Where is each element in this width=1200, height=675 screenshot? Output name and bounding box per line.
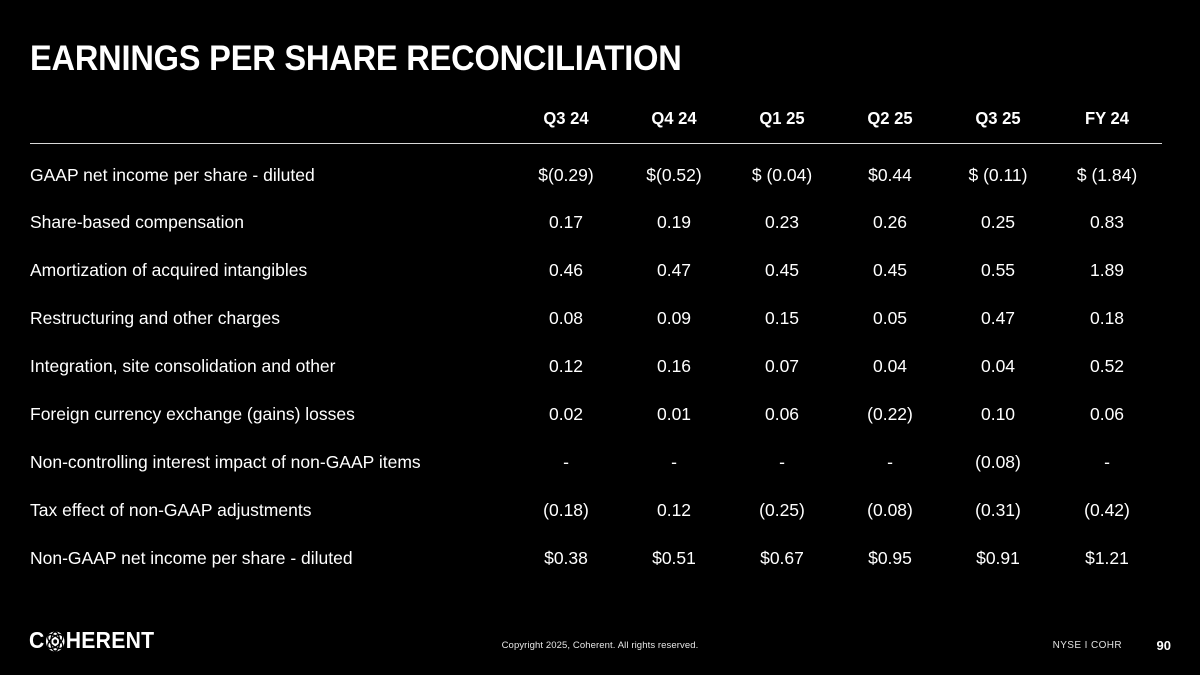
cell-value: 0.52 — [1052, 342, 1162, 390]
row-label: Tax effect of non-GAAP adjustments — [30, 486, 512, 534]
cell-value: 0.45 — [728, 246, 836, 294]
table-row: GAAP net income per share - diluted $(0.… — [30, 144, 1162, 199]
cell-value: 0.25 — [944, 198, 1052, 246]
cell-value: 0.01 — [620, 390, 728, 438]
cell-value: 0.23 — [728, 198, 836, 246]
cell-value: - — [836, 438, 944, 486]
cell-value: 0.12 — [620, 486, 728, 534]
cell-value: (0.42) — [1052, 486, 1162, 534]
cell-value: 0.06 — [1052, 390, 1162, 438]
table-header: Q3 24 Q4 24 Q1 25 Q2 25 Q3 25 FY 24 — [30, 108, 1162, 144]
column-header-q2-25: Q2 25 — [839, 108, 942, 144]
table: Q3 24 Q4 24 Q1 25 Q2 25 Q3 25 FY 24 GAAP… — [30, 108, 1162, 582]
cell-value: 0.09 — [620, 294, 728, 342]
table-row: Non-GAAP net income per share - diluted … — [30, 534, 1162, 582]
cell-value: $ (0.04) — [728, 144, 836, 199]
table-header-row: Q3 24 Q4 24 Q1 25 Q2 25 Q3 25 FY 24 — [30, 108, 1162, 144]
row-label: Foreign currency exchange (gains) losses — [30, 390, 512, 438]
table-body: GAAP net income per share - diluted $(0.… — [30, 144, 1162, 583]
cell-value: $0.51 — [620, 534, 728, 582]
cell-value: 0.08 — [512, 294, 620, 342]
row-label: GAAP net income per share - diluted — [30, 144, 512, 199]
slide-canvas: EARNINGS PER SHARE RECONCILIATION Q3 24 … — [0, 0, 1200, 675]
cell-value: 0.02 — [512, 390, 620, 438]
cell-value: $(0.52) — [620, 144, 728, 199]
cell-value: 0.55 — [944, 246, 1052, 294]
cell-value: 0.05 — [836, 294, 944, 342]
cell-value: 0.07 — [728, 342, 836, 390]
table-row: Amortization of acquired intangibles 0.4… — [30, 246, 1162, 294]
cell-value: (0.31) — [944, 486, 1052, 534]
cell-value: 0.16 — [620, 342, 728, 390]
cell-value: $0.95 — [836, 534, 944, 582]
copyright-text: Copyright 2025, Coherent. All rights res… — [0, 640, 1200, 651]
column-header-q3-24: Q3 24 — [515, 108, 618, 144]
cell-value: (0.08) — [944, 438, 1052, 486]
cell-value: 0.04 — [944, 342, 1052, 390]
cell-value: 0.47 — [944, 294, 1052, 342]
cell-value: (0.25) — [728, 486, 836, 534]
cell-value: - — [620, 438, 728, 486]
cell-value: 0.83 — [1052, 198, 1162, 246]
slide-footer: C HERENT Copyright 2025, Coherent. All r… — [0, 611, 1200, 675]
cell-value: 0.18 — [1052, 294, 1162, 342]
cell-value: $(0.29) — [512, 144, 620, 199]
row-label: Amortization of acquired intangibles — [30, 246, 512, 294]
table-row: Non-controlling interest impact of non-G… — [30, 438, 1162, 486]
cell-value: 0.12 — [512, 342, 620, 390]
table-row: Share-based compensation 0.17 0.19 0.23 … — [30, 198, 1162, 246]
table-row: Foreign currency exchange (gains) losses… — [30, 390, 1162, 438]
cell-value: 0.17 — [512, 198, 620, 246]
cell-value: 0.19 — [620, 198, 728, 246]
column-header-q4-24: Q4 24 — [623, 108, 726, 144]
table-row: Restructuring and other charges 0.08 0.0… — [30, 294, 1162, 342]
cell-value: 0.10 — [944, 390, 1052, 438]
cell-value: $ (0.11) — [944, 144, 1052, 199]
cell-value: $0.91 — [944, 534, 1052, 582]
cell-value: $0.44 — [836, 144, 944, 199]
column-header-q1-25: Q1 25 — [731, 108, 834, 144]
cell-value: 1.89 — [1052, 246, 1162, 294]
cell-value: - — [512, 438, 620, 486]
cell-value: $1.21 — [1052, 534, 1162, 582]
cell-value: $0.67 — [728, 534, 836, 582]
row-label: Non-GAAP net income per share - diluted — [30, 534, 512, 582]
table-row: Integration, site consolidation and othe… — [30, 342, 1162, 390]
cell-value: (0.08) — [836, 486, 944, 534]
row-label: Share-based compensation — [30, 198, 512, 246]
cell-value: 0.47 — [620, 246, 728, 294]
page-number: 90 — [1157, 638, 1171, 653]
cell-value: 0.45 — [836, 246, 944, 294]
cell-value: 0.46 — [512, 246, 620, 294]
cell-value: 0.26 — [836, 198, 944, 246]
cell-value: (0.18) — [512, 486, 620, 534]
table-row: Tax effect of non-GAAP adjustments (0.18… — [30, 486, 1162, 534]
cell-value: (0.22) — [836, 390, 944, 438]
row-label: Integration, site consolidation and othe… — [30, 342, 512, 390]
cell-value: 0.04 — [836, 342, 944, 390]
cell-value: $0.38 — [512, 534, 620, 582]
cell-value: - — [728, 438, 836, 486]
row-label: Restructuring and other charges — [30, 294, 512, 342]
row-label: Non-controlling interest impact of non-G… — [30, 438, 512, 486]
column-header-fy-24: FY 24 — [1055, 108, 1160, 144]
column-header-q3-25: Q3 25 — [947, 108, 1050, 144]
cell-value: $ (1.84) — [1052, 144, 1162, 199]
cell-value: 0.06 — [728, 390, 836, 438]
stock-ticker: NYSE I COHR — [1053, 640, 1122, 651]
cell-value: - — [1052, 438, 1162, 486]
page-title: EARNINGS PER SHARE RECONCILIATION — [30, 38, 682, 80]
eps-reconciliation-table: Q3 24 Q4 24 Q1 25 Q2 25 Q3 25 FY 24 GAAP… — [30, 108, 1162, 582]
column-header-label — [42, 108, 500, 144]
cell-value: 0.15 — [728, 294, 836, 342]
